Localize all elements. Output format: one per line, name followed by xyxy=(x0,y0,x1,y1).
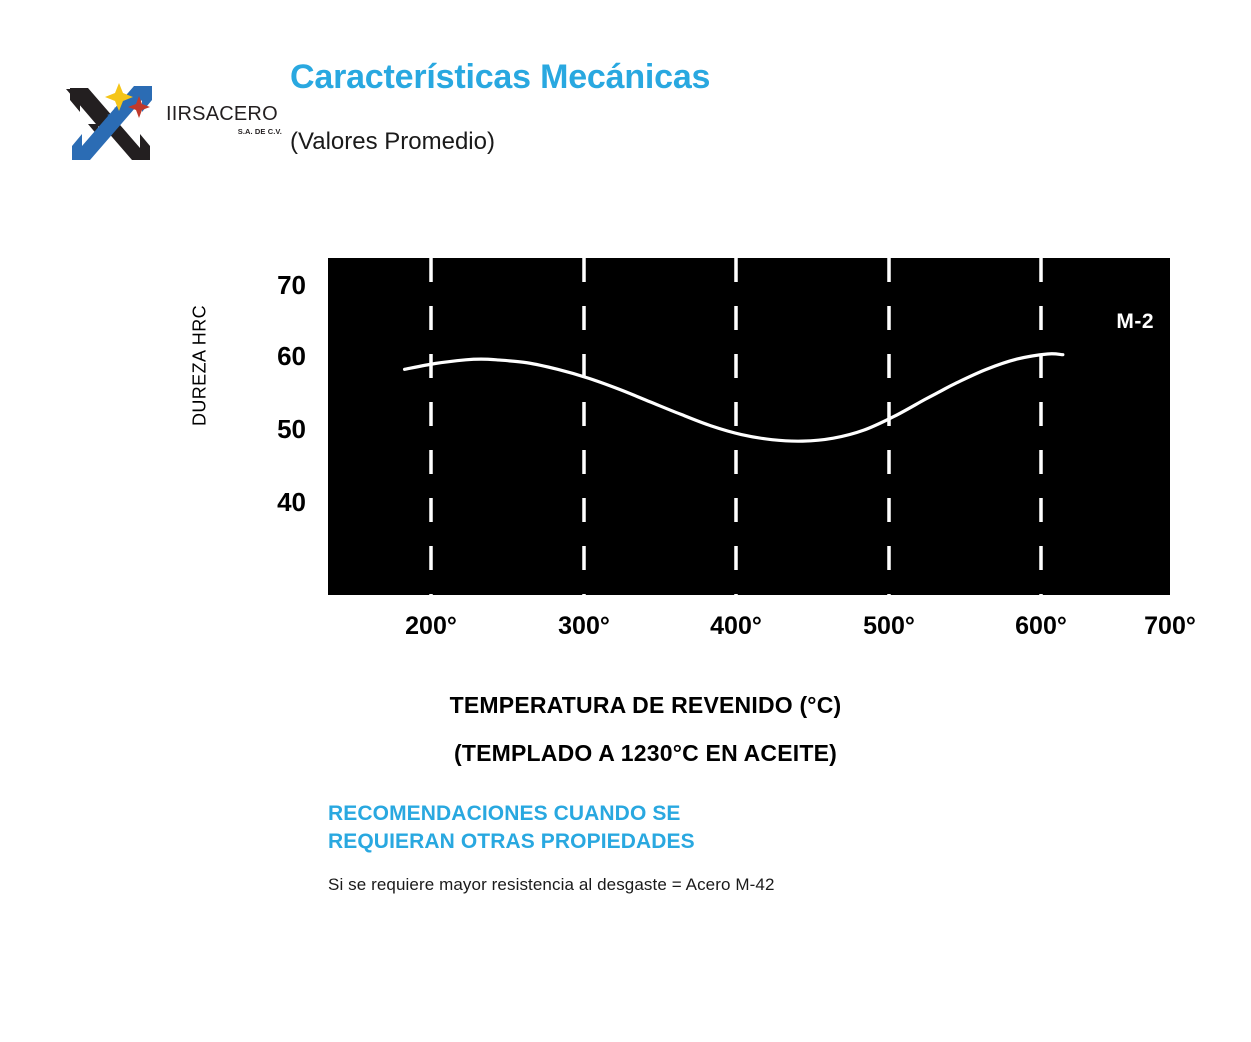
y-tick-label-70: 70 xyxy=(236,272,306,298)
y-axis-title: DUREZA HRC xyxy=(190,286,211,446)
plot-background xyxy=(328,258,1170,595)
y-tick-label-50: 50 xyxy=(236,416,306,442)
x-tick-label-200: 200° xyxy=(371,614,491,639)
brand-logo: IIRSACERO S.A. DE C.V. xyxy=(58,74,288,166)
iirsacero-arrow-logo xyxy=(58,74,163,166)
brand-name: IIRSACERO xyxy=(166,104,286,124)
recommendations-heading-line-1: RECOMENDACIONES CUANDO SE xyxy=(328,800,1028,828)
recommendations-heading-line-2: REQUIERAN OTRAS PROPIEDADES xyxy=(328,828,1028,856)
brand-wordmark: IIRSACERO S.A. DE C.V. xyxy=(166,104,286,136)
chart-plot-svg xyxy=(328,258,1170,595)
y-tick-label-60: 60 xyxy=(236,343,306,369)
x-axis-subtitle: (TEMPLADO A 1230°C EN ACEITE) xyxy=(0,740,1251,767)
hardness-tempering-chart: M-2 xyxy=(328,258,1170,595)
x-axis-title: TEMPERATURA DE REVENIDO (°C) xyxy=(0,692,1251,719)
brand-legal-suffix: S.A. DE C.V. xyxy=(166,127,286,136)
page-subtitle: (Valores Promedio) xyxy=(290,128,495,156)
x-tick-label-700: 700° xyxy=(1110,614,1230,639)
recommendations-section: RECOMENDACIONES CUANDO SE REQUIERAN OTRA… xyxy=(328,800,1028,895)
series-label-m2: M-2 xyxy=(1116,310,1154,334)
y-tick-label-40: 40 xyxy=(236,489,306,515)
recommendations-body: Si se requiere mayor resistencia al desg… xyxy=(328,875,1028,895)
x-tick-label-600: 600° xyxy=(981,614,1101,639)
x-tick-label-500: 500° xyxy=(829,614,949,639)
page-title: Características Mecánicas xyxy=(290,58,710,97)
x-tick-label-400: 400° xyxy=(676,614,796,639)
x-tick-label-300: 300° xyxy=(524,614,644,639)
